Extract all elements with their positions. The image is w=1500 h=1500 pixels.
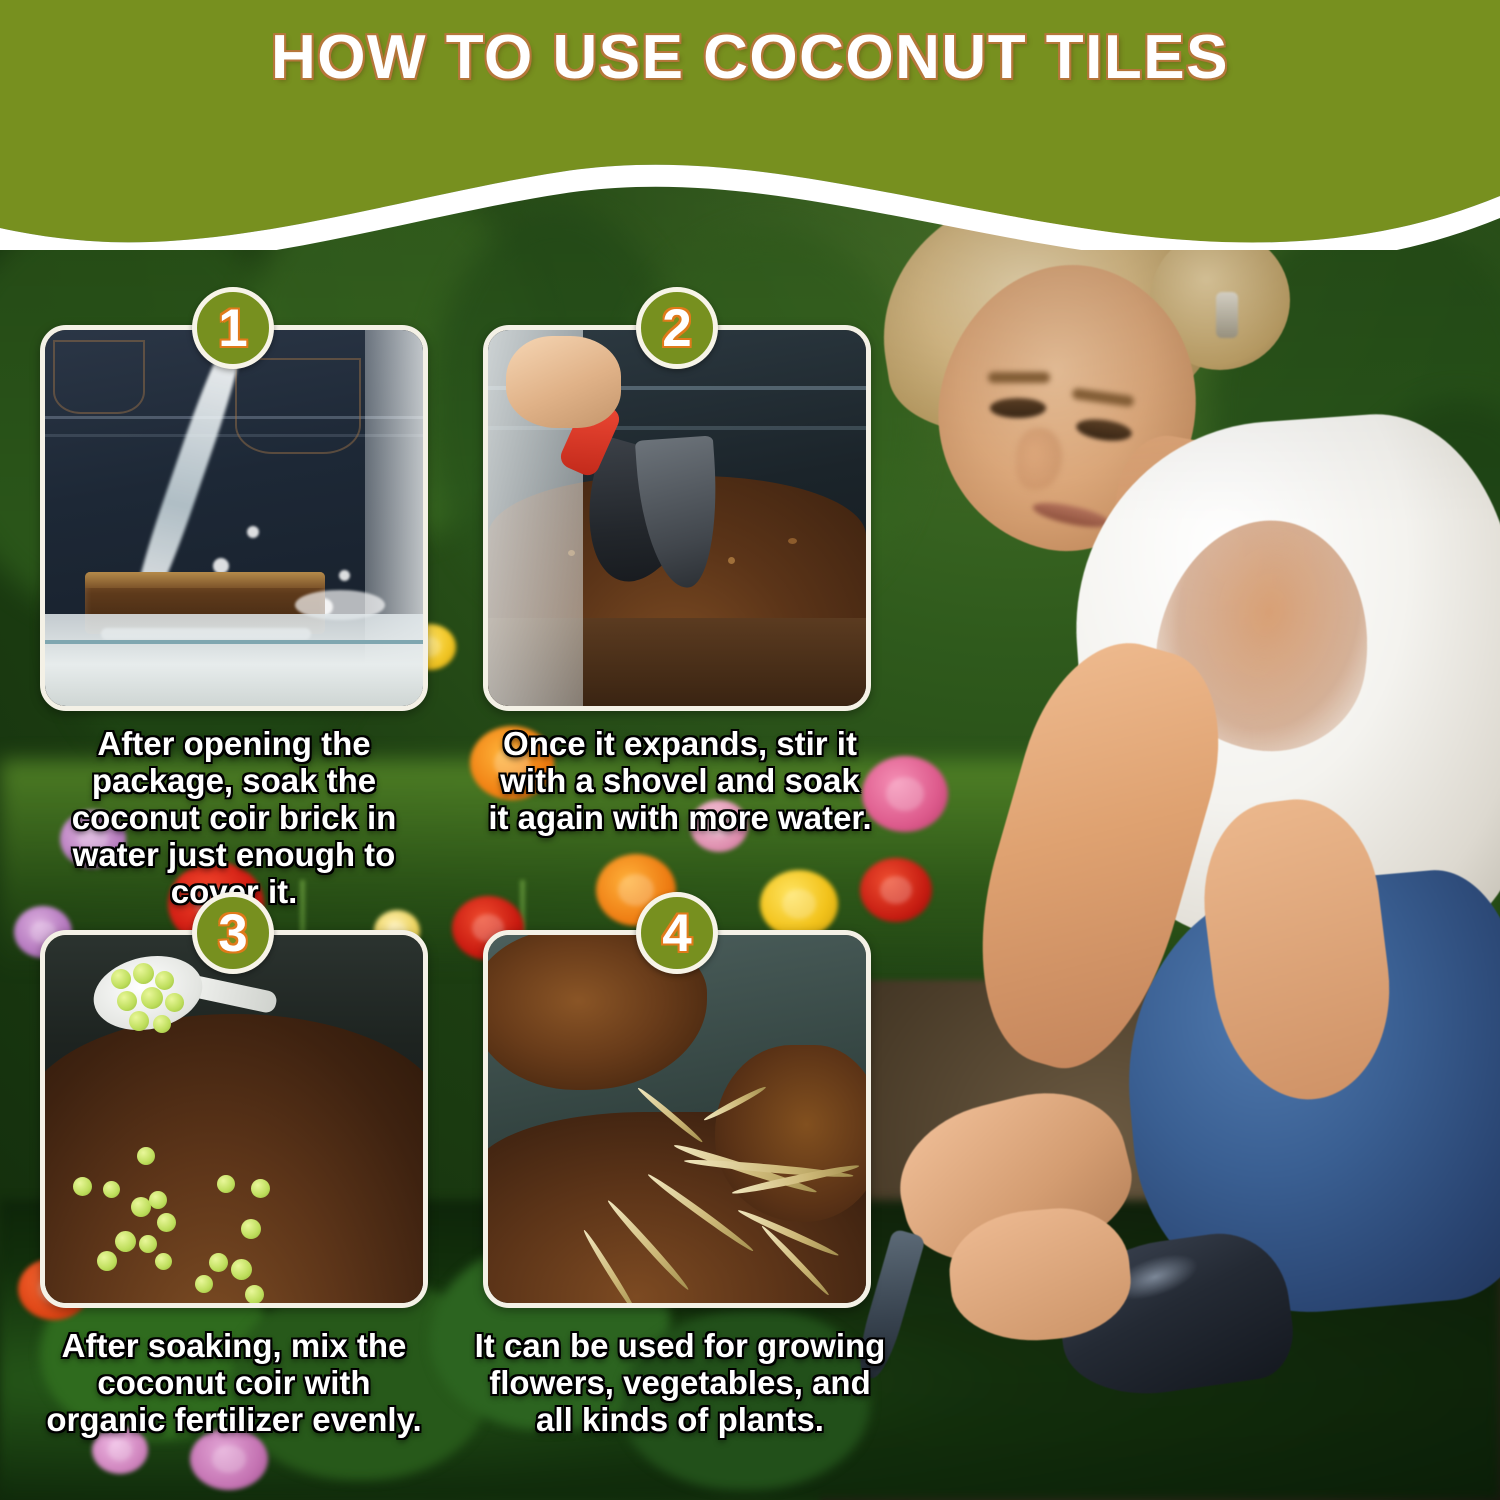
fertilizer-pellet — [103, 1181, 120, 1198]
fertilizer-pellet — [245, 1285, 264, 1304]
fertilizer-pellet — [157, 1213, 176, 1232]
step-4-number: 4 — [662, 907, 691, 960]
step-3-image-card[interactable] — [40, 930, 428, 1308]
fertilizer-pellet — [131, 1197, 151, 1217]
fertilizer-pellet — [217, 1175, 235, 1193]
fertilizer-pellet — [195, 1275, 213, 1293]
fertilizer-pellet — [165, 993, 184, 1012]
fertilizer-pellet — [73, 1177, 92, 1196]
hand-gripping-trowel — [506, 336, 621, 428]
coir-grain — [788, 538, 797, 544]
step-1-badge: 1 — [192, 287, 274, 369]
water-splash — [247, 526, 259, 538]
fertilizer-pellet — [141, 987, 163, 1009]
step-3-badge: 3 — [192, 892, 274, 974]
fertilizer-pellet — [231, 1259, 252, 1280]
fertilizer-pellet — [115, 1231, 136, 1252]
water-splash — [339, 570, 350, 581]
fertilizer-pellet — [129, 1011, 149, 1031]
fertilizer-pellet — [155, 1253, 172, 1270]
fertilizer-pellet — [153, 1015, 171, 1033]
coir-grain — [728, 557, 735, 564]
step-2-caption: Once it expands, stir it with a shovel a… — [488, 726, 872, 837]
tray-rim-line — [45, 640, 423, 644]
coir-clump-right — [715, 1045, 871, 1222]
header-band: HOW TO USE COCONUT TILES — [0, 0, 1500, 250]
step-1-image-card[interactable] — [40, 325, 428, 711]
step-2-number: 2 — [662, 302, 691, 355]
fertilizer-pellet — [137, 1147, 155, 1165]
step-4-image-card[interactable] — [483, 930, 871, 1308]
fertilizer-pellet — [117, 991, 137, 1011]
step-4-badge: 4 — [636, 892, 718, 974]
step-2-badge: 2 — [636, 287, 718, 369]
fertilizer-pellet — [241, 1219, 261, 1239]
step-1-caption: After opening the package, soak the coco… — [34, 726, 434, 911]
fertilizer-pellet — [97, 1251, 117, 1271]
fertilizer-pellet — [209, 1253, 228, 1272]
fertilizer-pellet — [251, 1179, 270, 1198]
fertilizer-pellet — [133, 963, 154, 984]
step-3-number: 3 — [218, 907, 247, 960]
fertilizer-pellet — [139, 1235, 157, 1253]
page-title: HOW TO USE COCONUT TILES — [0, 22, 1500, 93]
step-4-caption: It can be used for growing flowers, vege… — [470, 1328, 890, 1439]
step-3-caption: After soaking, mix the coconut coir with… — [34, 1328, 434, 1439]
denim-pocket — [53, 340, 145, 414]
denim-pocket — [235, 358, 361, 454]
fertilizer-pellet — [155, 971, 174, 990]
step-2-image-card[interactable] — [483, 325, 871, 711]
coir-brick-top — [85, 572, 325, 588]
fertilizer-pellet — [149, 1191, 167, 1209]
fertilizer-pellet — [111, 969, 131, 989]
tray-base — [45, 614, 423, 706]
step-1-number: 1 — [218, 302, 247, 355]
